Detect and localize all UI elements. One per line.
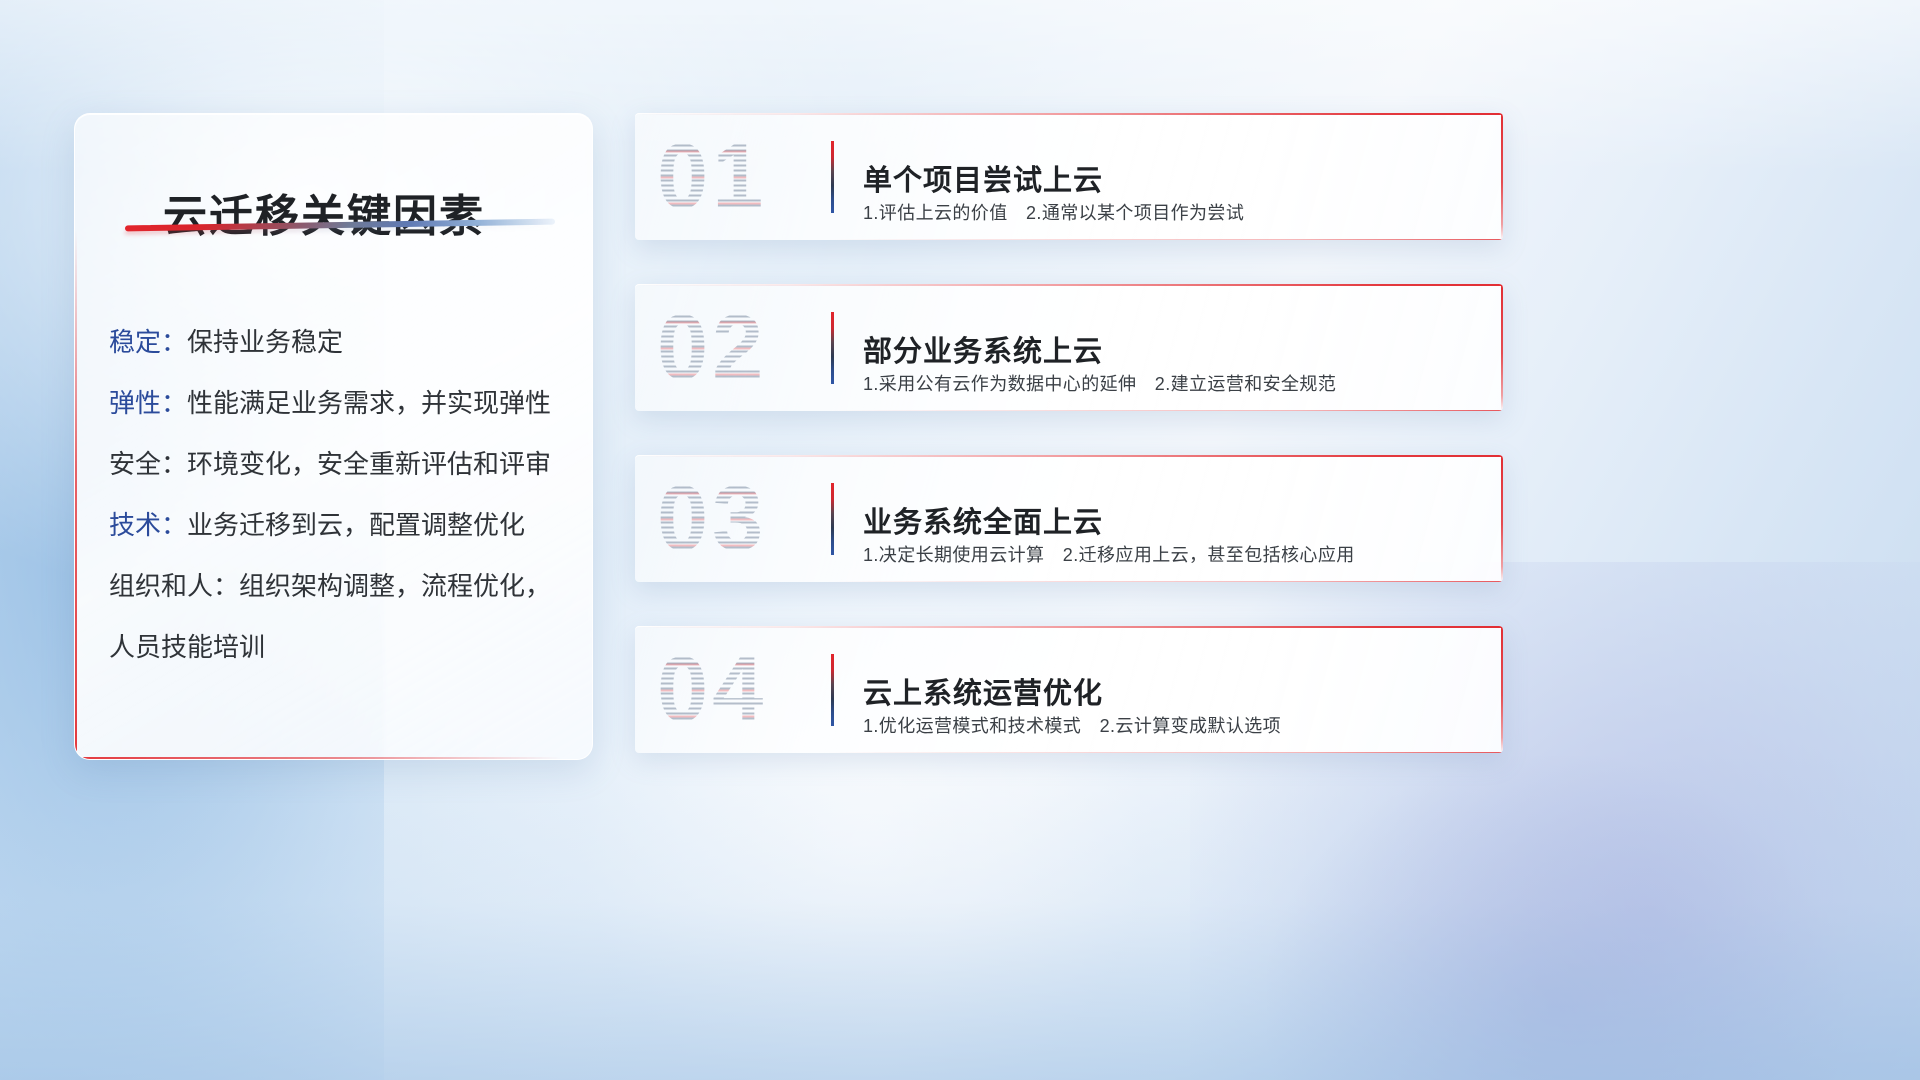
card-bottom-accent-line <box>826 239 1503 240</box>
card-right-accent-line <box>1501 284 1503 411</box>
stage-card-title: 单个项目尝试上云 <box>863 157 1103 199</box>
stage-number-glyph: 03 <box>657 466 767 571</box>
factor-label: 技术： <box>109 510 187 540</box>
stage-card-body: 1.评估上云的价值 2.通常以某个项目作为尝试 <box>863 199 1244 225</box>
card-bottom-accent-line <box>826 581 1503 582</box>
card-divider-bar <box>831 312 834 384</box>
card-right-accent-line <box>1501 113 1503 240</box>
card-top-accent-line <box>635 455 1503 457</box>
list-item: 稳定：保持业务稳定 <box>109 312 572 373</box>
card-bottom-accent-line <box>826 410 1503 411</box>
factor-label: 安全： <box>109 449 187 479</box>
factor-text: 业务迁移到云，配置调整优化 <box>187 510 525 540</box>
factor-text: 组织架构调整，流程优化， <box>239 571 551 601</box>
stage-card-body: 1.优化运营模式和技术模式 2.云计算变成默认选项 <box>863 712 1281 738</box>
card-divider-bar <box>831 654 834 726</box>
background-bottom-fade <box>0 756 1920 1080</box>
stage-number-glyph: 04 <box>657 637 767 742</box>
key-factors-list: 稳定：保持业务稳定 弹性：性能满足业务需求，并实现弹性 安全：环境变化，安全重新… <box>109 312 572 678</box>
card-top-accent-line <box>635 626 1503 628</box>
card-right-accent-line <box>1501 455 1503 582</box>
card-bottom-accent-line <box>826 752 1503 753</box>
stage-card-body: 1.决定长期使用云计算 2.迁移应用上云，甚至包括核心应用 <box>863 541 1355 567</box>
factor-label: 稳定： <box>109 327 187 357</box>
stage-card-title: 部分业务系统上云 <box>863 328 1103 370</box>
page-title: 云迁移关键因素 <box>163 180 485 244</box>
factor-text: 保持业务稳定 <box>187 327 343 357</box>
stage-number-glyph: 02 <box>657 295 767 400</box>
card-divider-bar <box>831 483 834 555</box>
stage-card-03[interactable]: 03 03 业务系统全面上云 1.决定长期使用云计算 2.迁移应用上云，甚至包括… <box>635 455 1503 582</box>
stage-card-01[interactable]: 01 01 单个项目尝试上云 1.评估上云的价值 2.通常以某个项目作为尝试 <box>635 113 1503 240</box>
stage-card-02[interactable]: 02 02 部分业务系统上云 1.采用公有云作为数据中心的延伸 2.建立运营和安… <box>635 284 1503 411</box>
key-factors-panel-inner: 云迁移关键因素 稳定：保持业务稳定 弹性：性能满足业务需求，并实现弹性 安全：环… <box>75 114 592 759</box>
list-item: 安全：环境变化，安全重新评估和评审 <box>109 434 572 495</box>
stage-card-title: 云上系统运营优化 <box>863 670 1103 712</box>
factor-text: 性能满足业务需求，并实现弹性 <box>187 388 551 418</box>
key-factors-panel: 云迁移关键因素 稳定：保持业务稳定 弹性：性能满足业务需求，并实现弹性 安全：环… <box>74 113 593 760</box>
card-divider-bar <box>831 141 834 213</box>
stage-card-04[interactable]: 04 04 云上系统运营优化 1.优化运营模式和技术模式 2.云计算变成默认选项 <box>635 626 1503 753</box>
stage-card-body: 1.采用公有云作为数据中心的延伸 2.建立运营和安全规范 <box>863 370 1336 396</box>
stage-cards-list: 01 01 单个项目尝试上云 1.评估上云的价值 2.通常以某个项目作为尝试 0… <box>635 113 1503 797</box>
card-top-accent-line <box>635 284 1503 286</box>
list-item: 组织和人：组织架构调整，流程优化， <box>109 556 572 617</box>
card-right-accent-line <box>1501 626 1503 753</box>
factor-label: 组织和人： <box>109 571 239 601</box>
list-item: 技术：业务迁移到云，配置调整优化 <box>109 495 572 556</box>
factor-label: 弹性： <box>109 388 187 418</box>
list-item: 人员技能培训 <box>109 617 572 678</box>
list-item: 弹性：性能满足业务需求，并实现弹性 <box>109 373 572 434</box>
factor-text: 环境变化，安全重新评估和评审 <box>187 449 551 479</box>
card-top-accent-line <box>635 113 1503 115</box>
stage-number-glyph: 01 <box>657 124 767 229</box>
stage-card-title: 业务系统全面上云 <box>863 499 1103 541</box>
factor-text: 人员技能培训 <box>109 632 265 662</box>
